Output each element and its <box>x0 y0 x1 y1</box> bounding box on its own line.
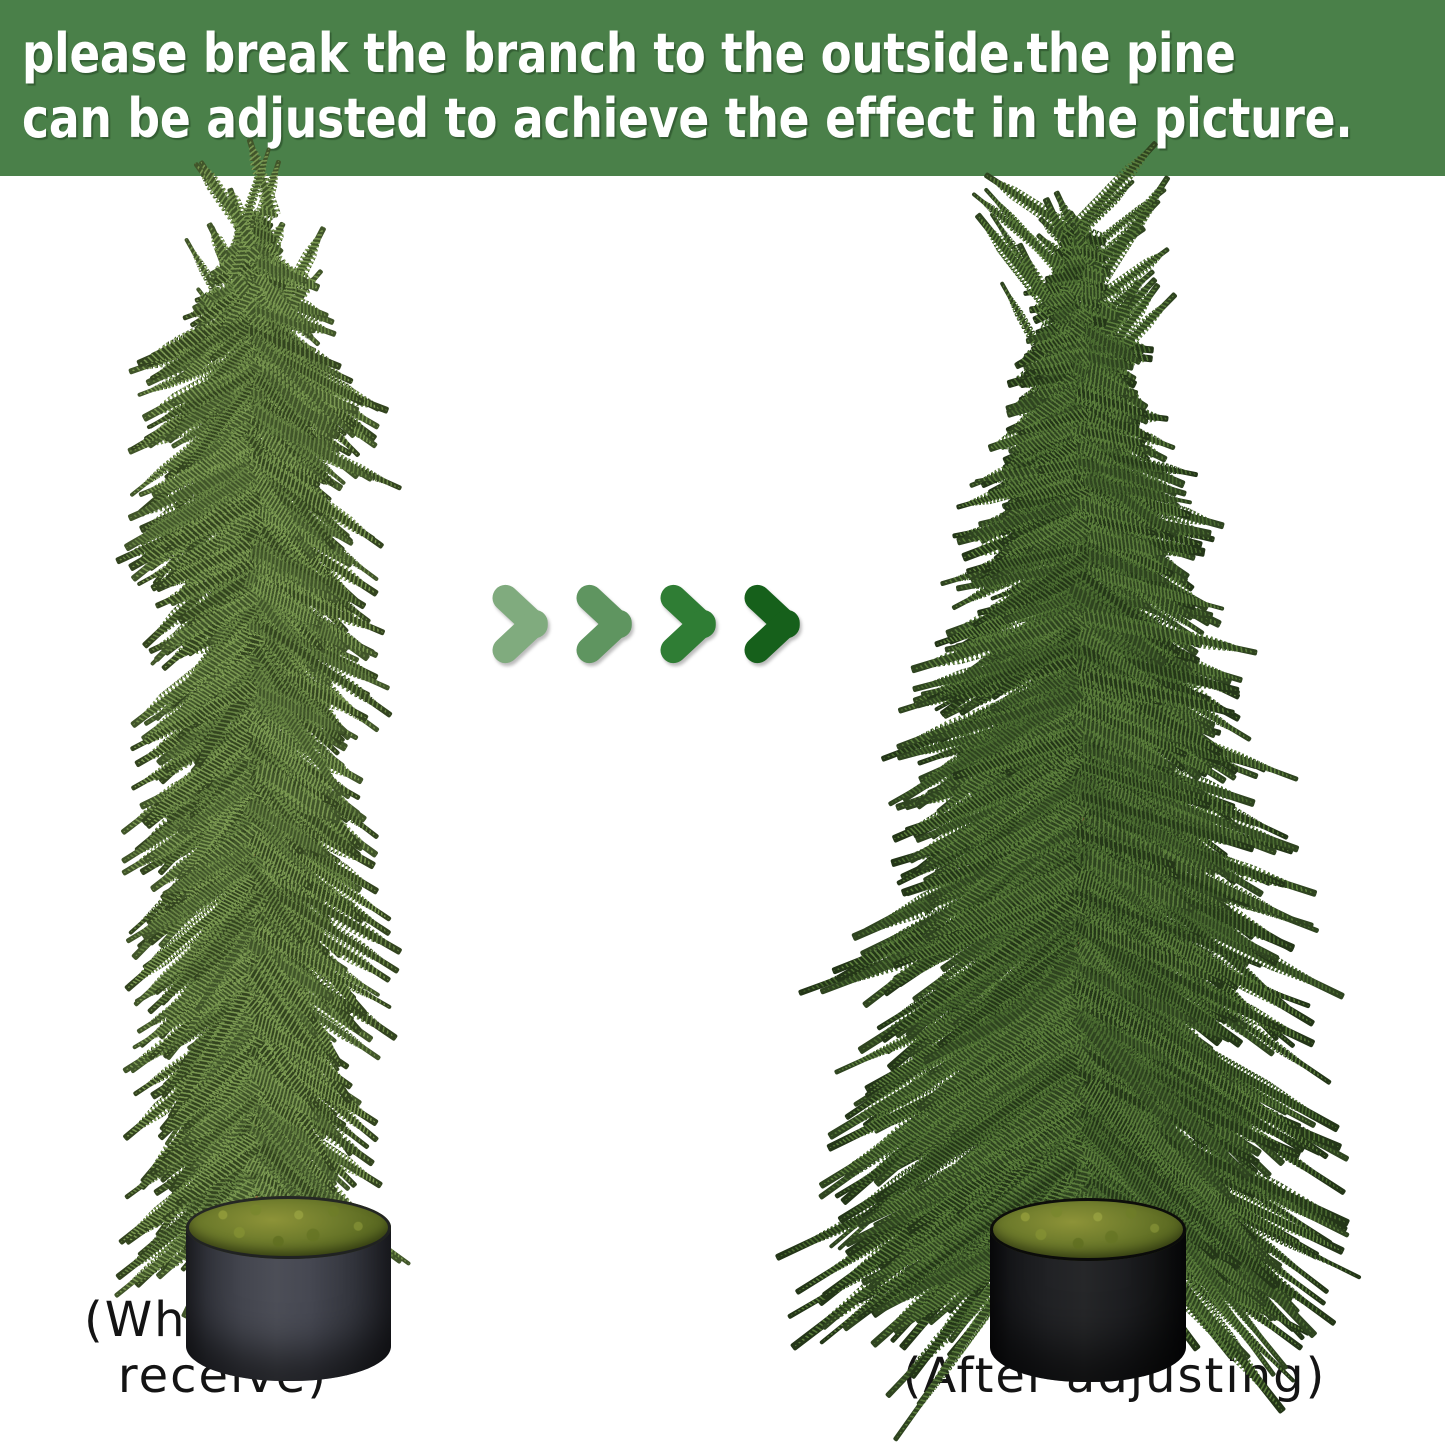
instruction-banner: please break the branch to the outside.t… <box>0 0 1445 176</box>
chevron-right-icon-3 <box>660 562 752 686</box>
chevron-right-icon-4 <box>744 562 836 686</box>
pine-tree-before <box>0 176 470 1412</box>
plant-pot-after <box>990 1198 1186 1382</box>
pine-branch <box>1088 239 1105 242</box>
comparison-stage: (When you receive) (After adjusting) <box>0 176 1445 1412</box>
pine-tree-after <box>740 176 1445 1412</box>
after-panel: (After adjusting) <box>740 176 1445 1412</box>
transition-arrows <box>492 559 812 689</box>
banner-line-2: can be adjusted to achieve the effect in… <box>22 89 1332 147</box>
pine-branch <box>1033 367 1073 371</box>
pine-branch <box>1045 275 1076 280</box>
chevron-right-icon-2 <box>576 562 668 686</box>
before-panel: (When you receive) <box>0 176 470 1412</box>
chevron-right-icon-1 <box>492 562 584 686</box>
plant-pot-before <box>186 1196 391 1381</box>
moss-soil <box>990 1198 1186 1261</box>
moss-soil <box>186 1196 391 1259</box>
banner-line-1: please break the branch to the outside.t… <box>22 25 1332 83</box>
pine-branch <box>1083 272 1106 280</box>
